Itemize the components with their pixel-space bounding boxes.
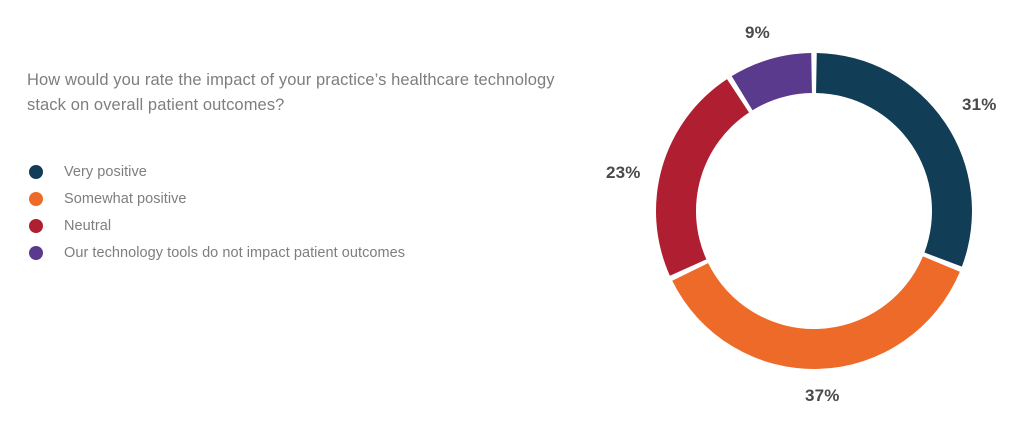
donut-slice-group (656, 53, 972, 369)
data-label-neutral: 23% (606, 163, 641, 183)
donut-slice[interactable] (656, 79, 749, 276)
donut-slice[interactable] (672, 256, 960, 369)
data-label-no-impact: 9% (745, 23, 770, 43)
donut-chart-svg (0, 0, 1024, 425)
donut-slice[interactable] (732, 53, 812, 110)
data-label-somewhat-positive: 37% (805, 386, 840, 406)
donut-chart: 9% 31% 37% 23% (0, 0, 1024, 425)
donut-slice[interactable] (816, 53, 972, 267)
data-label-very-positive: 31% (962, 95, 997, 115)
